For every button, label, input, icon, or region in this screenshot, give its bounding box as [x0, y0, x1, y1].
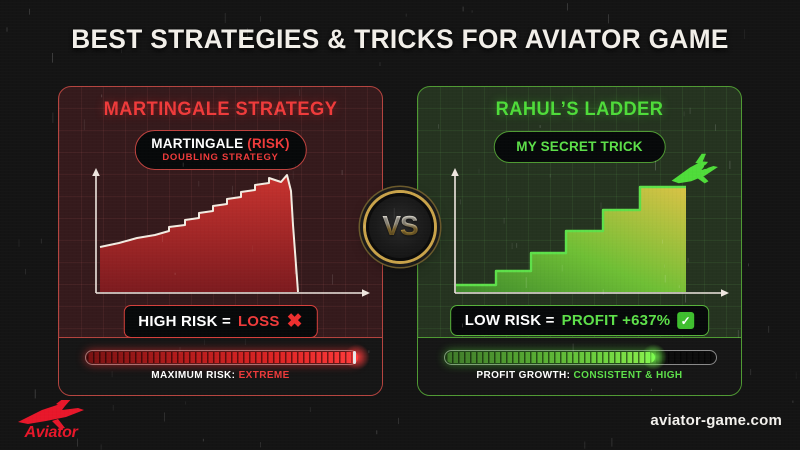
meter-ticks: [446, 352, 715, 363]
right-badge-main: MY SECRET TRICK: [516, 139, 643, 154]
right-banner-value: PROFIT +637%: [562, 312, 671, 329]
martingale-chart-svg: [59, 165, 383, 315]
ladder-chart-svg: [418, 165, 742, 315]
left-panel-heading: MARTINGALE STRATEGY: [65, 99, 375, 121]
panel-martingale-strategy: MARTINGALE STRATEGY MARTINGALE (RISK) DO…: [58, 86, 383, 396]
profit-growth-meter: [444, 350, 717, 365]
rahuls-ladder-chart: [418, 165, 742, 315]
left-badge-accent: (RISK): [247, 136, 289, 151]
left-badge-sub: DOUBLING STRATEGY: [162, 152, 278, 163]
right-meter-label: PROFIT GROWTH: CONSISTENT & HIGH: [418, 370, 741, 381]
cross-icon: ✖: [287, 312, 303, 331]
y-axis-arrow: [451, 168, 459, 176]
left-meter-prefix: MAXIMUM RISK:: [151, 370, 235, 381]
plane-icon: [667, 151, 721, 191]
right-panel-badge: MY SECRET TRICK: [493, 131, 666, 163]
left-panel-badge: MARTINGALE (RISK) DOUBLING STRATEGY: [134, 130, 306, 170]
x-axis-arrow: [721, 289, 729, 297]
check-icon: ✓: [677, 312, 694, 329]
logo-wordmark: Aviator: [12, 424, 90, 442]
maximum-risk-meter: [85, 350, 358, 365]
site-url: aviator-game.com: [650, 412, 782, 429]
martingale-risk-chart: [59, 165, 383, 315]
left-meter-value: EXTREME: [239, 370, 290, 381]
left-result-banner: HIGH RISK = LOSS ✖: [123, 305, 317, 338]
left-meter-section: MAXIMUM RISK: EXTREME: [59, 337, 382, 395]
left-banner-value: LOSS: [238, 313, 280, 330]
right-panel-heading: RAHUL’S LADDER: [424, 99, 734, 121]
left-banner-prefix: HIGH RISK =: [138, 313, 231, 330]
right-meter-prefix: PROFIT GROWTH:: [476, 370, 570, 381]
ladder-area: [456, 187, 686, 292]
y-axis-arrow: [92, 168, 100, 176]
panel-rahuls-ladder: RAHUL’S LADDER MY SECRET TRICK: [417, 86, 742, 396]
vs-label: VS: [382, 210, 417, 242]
right-meter-section: PROFIT GROWTH: CONSISTENT & HIGH: [418, 337, 741, 395]
left-badge-main: MARTINGALE: [151, 136, 243, 151]
aviator-logo[interactable]: Aviator: [12, 400, 90, 446]
page-title: BEST STRATEGIES & TRICKS FOR AVIATOR GAM…: [12, 24, 788, 54]
meter-cap: [353, 351, 356, 364]
vs-badge: VS: [366, 193, 434, 261]
right-result-banner: LOW RISK = PROFIT +637% ✓: [450, 305, 710, 336]
meter-ticks: [87, 352, 356, 363]
right-banner-prefix: LOW RISK =: [465, 312, 555, 329]
right-meter-value: CONSISTENT & HIGH: [574, 370, 683, 381]
x-axis-arrow: [362, 289, 370, 297]
left-meter-label: MAXIMUM RISK: EXTREME: [59, 370, 382, 381]
martingale-area: [100, 175, 298, 292]
